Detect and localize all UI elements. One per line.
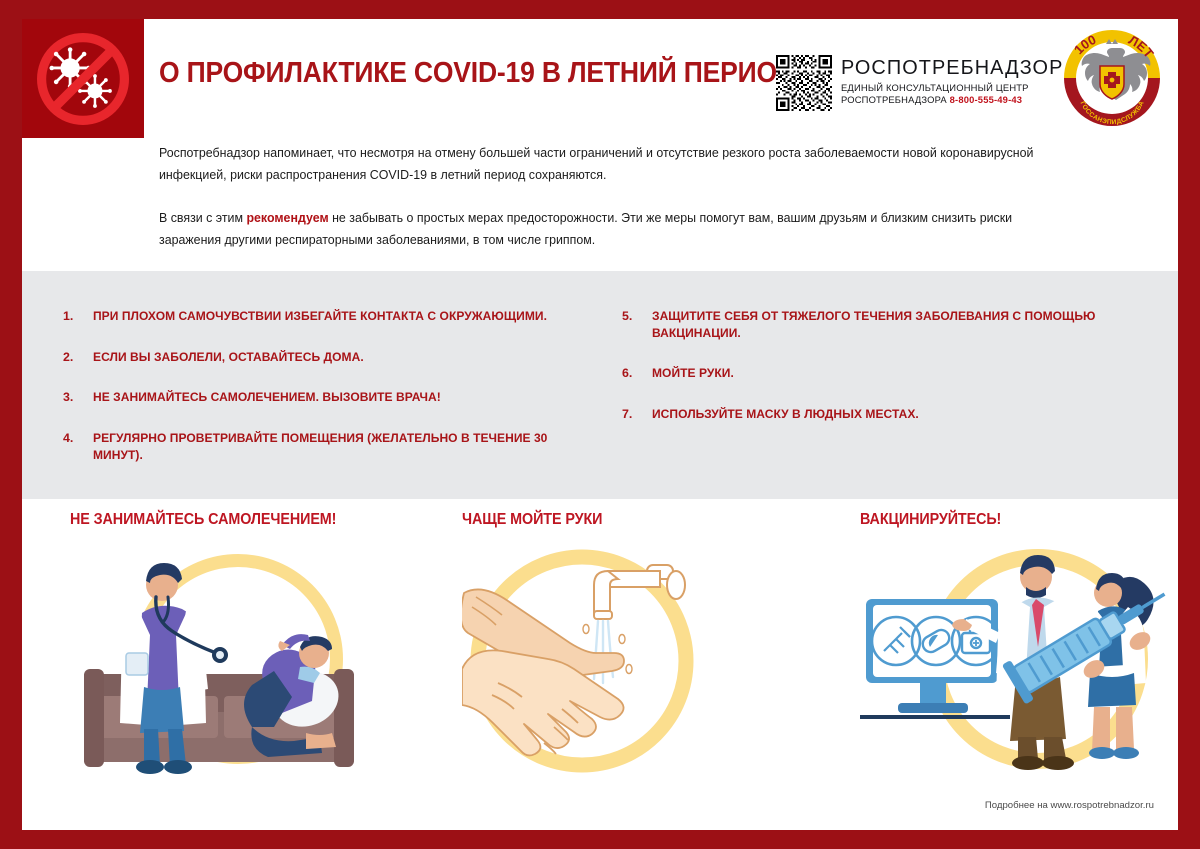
- poster-header: О ПРОФИЛАКТИКЕ COVID-19 В ЛЕТНИЙ ПЕРИОД: [144, 19, 1178, 138]
- gossanepidsluzhba-emblem: 100 ЛЕТ ГОССАНЭПИДСЛУЖБА: [1056, 22, 1168, 134]
- card-wash-hands: ЧАЩЕ МОЙТЕ РУКИ: [462, 511, 712, 781]
- doctors-with-syringe-illustration: [860, 541, 1170, 776]
- tip-text: НЕ ЗАНИМАЙТЕСЬ САМОЛЕЧЕНИЕМ. ВЫЗОВИТЕ ВР…: [93, 389, 441, 406]
- footer-note: Подробнее на www.rospotrebnadzor.ru: [22, 800, 1154, 811]
- tip-text: ПРИ ПЛОХОМ САМОЧУВСТВИИ ИЗБЕГАЙТЕ КОНТАК…: [93, 308, 547, 325]
- tip-number: 5.: [622, 308, 652, 325]
- tips-column-left: 1. ПРИ ПЛОХОМ САМОЧУВСТВИИ ИЗБЕГАЙТЕ КОН…: [63, 308, 583, 488]
- illustration-row: НЕ ЗАНИМАЙТЕСЬ САМОЛЕЧЕНИЕМ!: [22, 511, 1178, 811]
- list-item: 6. МОЙТЕ РУКИ.: [622, 365, 1162, 382]
- poster-root: О ПРОФИЛАКТИКЕ COVID-19 В ЛЕТНИЙ ПЕРИОД: [0, 0, 1200, 849]
- list-item: 5. ЗАЩИТИТЕ СЕБЯ ОТ ТЯЖЕЛОГО ТЕЧЕНИЯ ЗАБ…: [622, 308, 1162, 341]
- tip-number: 2.: [63, 349, 93, 366]
- tip-text: ИСПОЛЬЗУЙТЕ МАСКУ В ЛЮДНЫХ МЕСТАХ.: [652, 406, 919, 423]
- brand-name: РОСПОТРЕБНАДЗОР: [841, 57, 1063, 79]
- tip-number: 4.: [63, 430, 93, 447]
- no-virus-icon: [37, 33, 129, 125]
- tip-text: ЕСЛИ ВЫ ЗАБОЛЕЛИ, ОСТАВАЙТЕСЬ ДОМА.: [93, 349, 364, 366]
- list-item: 3. НЕ ЗАНИМАЙТЕСЬ САМОЛЕЧЕНИЕМ. ВЫЗОВИТЕ…: [63, 389, 583, 406]
- list-item: 4. РЕГУЛЯРНО ПРОВЕТРИВАЙТЕ ПОМЕЩЕНИЯ (ЖЕ…: [63, 430, 583, 463]
- intro-text: Роспотребнадзор напоминает, что несмотря…: [159, 143, 1069, 252]
- tip-number: 1.: [63, 308, 93, 325]
- qr-code-icon[interactable]: [776, 55, 832, 111]
- tip-text: МОЙТЕ РУКИ.: [652, 365, 734, 382]
- intro-paragraph-2: В связи с этим рекомендуем не забывать о…: [159, 208, 1055, 251]
- tip-text: ЗАЩИТИТЕ СЕБЯ ОТ ТЯЖЕЛОГО ТЕЧЕНИЯ ЗАБОЛЕ…: [652, 308, 1147, 341]
- brand-subtitle: ЕДИНЫЙ КОНСУЛЬТАЦИОННЫЙ ЦЕНТР РОСПОТРЕБН…: [841, 82, 1070, 107]
- list-item: 1. ПРИ ПЛОХОМ САМОЧУВСТВИИ ИЗБЕГАЙТЕ КОН…: [63, 308, 583, 325]
- card-caption: ВАКЦИНИРУЙТЕСЬ!: [860, 511, 1154, 529]
- brand-text-block: РОСПОТРЕБНАДЗОР ЕДИНЫЙ КОНСУЛЬТАЦИОННЫЙ …: [841, 35, 1070, 107]
- tip-number: 6.: [622, 365, 652, 382]
- tips-panel: 1. ПРИ ПЛОХОМ САМОЧУВСТВИИ ИЗБЕГАЙТЕ КОН…: [22, 271, 1178, 499]
- consult-center-line: ЕДИНЫЙ КОНСУЛЬТАЦИОННЫЙ ЦЕНТР: [841, 82, 1029, 93]
- tip-text: РЕГУЛЯРНО ПРОВЕТРИВАЙТЕ ПОМЕЩЕНИЯ (ЖЕЛАТ…: [93, 430, 568, 463]
- tips-column-right: 5. ЗАЩИТИТЕ СЕБЯ ОТ ТЯЖЕЛОГО ТЕЧЕНИЯ ЗАБ…: [622, 308, 1162, 447]
- hotline-phone[interactable]: 8-800-555-49-43: [950, 94, 1023, 105]
- virus-badge-block: [22, 19, 144, 138]
- intro-paragraph-1: Роспотребнадзор напоминает, что несмотря…: [159, 143, 1055, 186]
- card-caption: ЧАЩЕ МОЙТЕ РУКИ: [462, 511, 692, 529]
- list-item: 7. ИСПОЛЬЗУЙТЕ МАСКУ В ЛЮДНЫХ МЕСТАХ.: [622, 406, 1162, 423]
- handwashing-under-faucet-illustration: [462, 541, 702, 776]
- list-item: 2. ЕСЛИ ВЫ ЗАБОЛЕЛИ, ОСТАВАЙТЕСЬ ДОМА.: [63, 349, 583, 366]
- poster-canvas: О ПРОФИЛАКТИКЕ COVID-19 В ЛЕТНИЙ ПЕРИОД: [22, 19, 1178, 830]
- page-title: О ПРОФИЛАКТИКЕ COVID-19 В ЛЕТНИЙ ПЕРИОД: [159, 57, 795, 90]
- consult-center-org: РОСПОТРЕБНАДЗОРА: [841, 94, 947, 105]
- brand-block: РОСПОТРЕБНАДЗОР ЕДИНЫЙ КОНСУЛЬТАЦИОННЫЙ …: [776, 35, 1070, 111]
- tip-number: 3.: [63, 389, 93, 406]
- card-self-medication: НЕ ЗАНИМАЙТЕСЬ САМОЛЕЧЕНИЕМ!: [70, 511, 430, 781]
- recommend-highlight: рекомендуем: [246, 211, 328, 225]
- card-caption: НЕ ЗАНИМАЙТЕСЬ САМОЛЕЧЕНИЕМ!: [70, 511, 401, 529]
- card-get-vaccinated: ВАКЦИНИРУЙТЕСЬ!: [860, 511, 1180, 781]
- doctor-examining-patient-illustration: [70, 541, 400, 776]
- intro-p2-before: В связи с этим: [159, 211, 246, 225]
- tip-number: 7.: [622, 406, 652, 423]
